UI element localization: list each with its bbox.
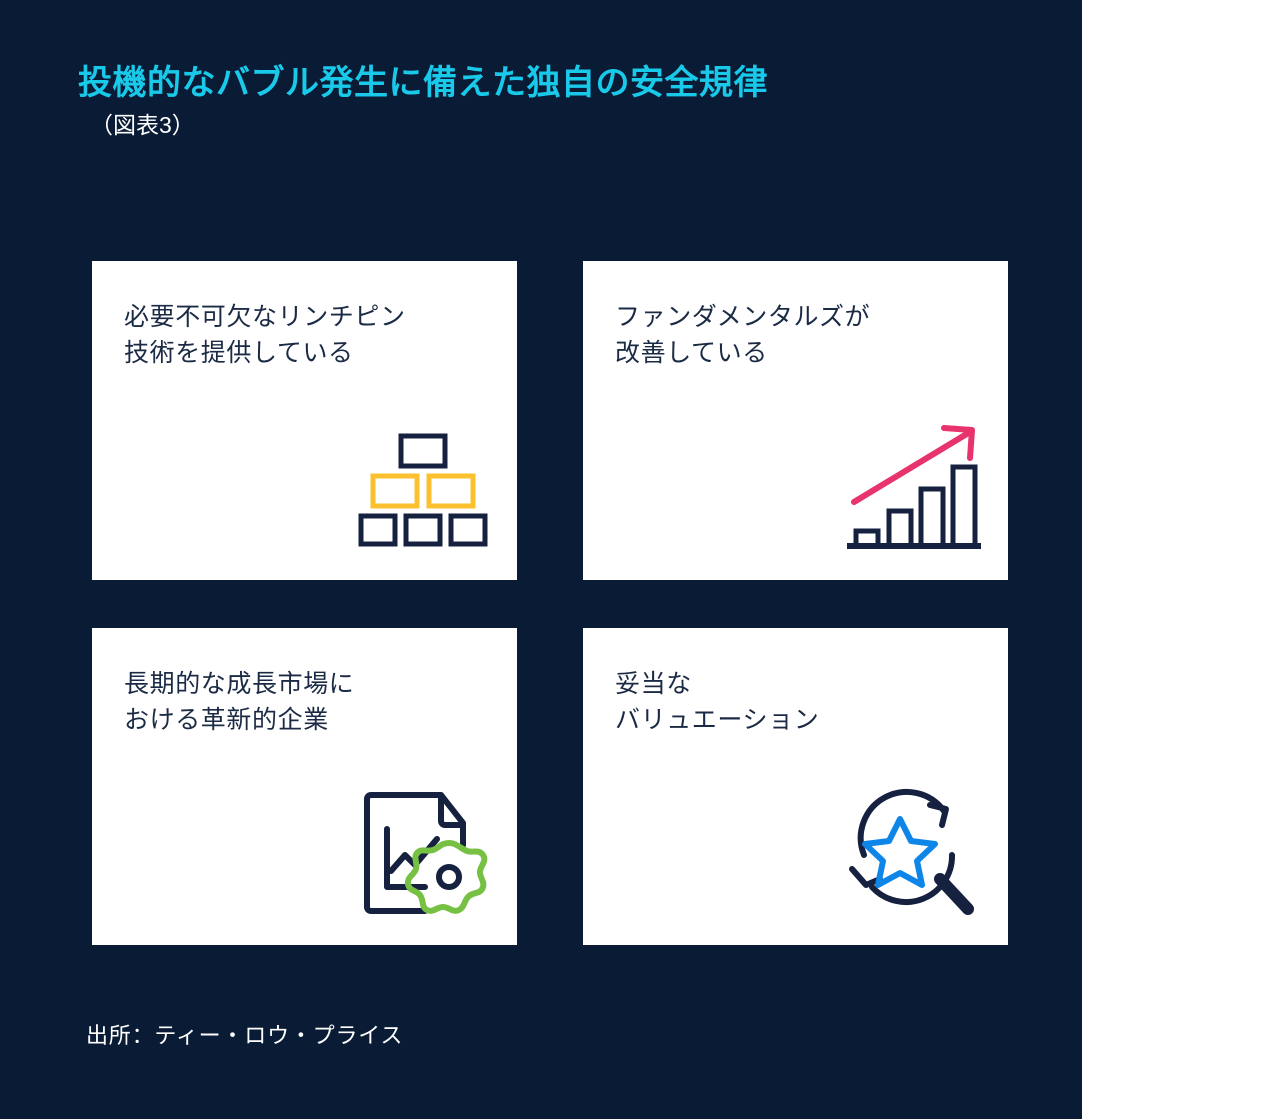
page-subtitle: （図表3） [90, 111, 1028, 141]
magnifier-star-refresh-icon [844, 783, 984, 923]
card-label: 妥当な バリュエーション [615, 666, 992, 739]
header: 投機的なバブル発生に備えた独自の安全規律 （図表3） [78, 62, 1028, 140]
document-chart-gear-icon [353, 783, 493, 923]
org-chart-icon [353, 418, 493, 558]
card-grid: 必要不可欠なリンチピン 技術を提供している ファンダメンタルズが 改善している [92, 261, 1008, 945]
card-innovative-growth-companies[interactable]: 長期的な成長市場に おける革新的企業 [92, 628, 517, 945]
source-note: 出所：ティー・ロウ・プライス [86, 1018, 403, 1050]
card-label: ファンダメンタルズが 改善している [615, 299, 992, 372]
slide-root: 投機的なバブル発生に備えた独自の安全規律 （図表3） 必要不可欠なリンチピン 技… [0, 0, 1280, 1119]
card-label: 長期的な成長市場に おける革新的企業 [124, 666, 501, 739]
card-label: 必要不可欠なリンチピン 技術を提供している [124, 299, 501, 372]
card-lynchpin-technology[interactable]: 必要不可欠なリンチピン 技術を提供している [92, 261, 517, 580]
page-title: 投機的なバブル発生に備えた独自の安全規律 [78, 62, 1028, 105]
card-sensible-valuation[interactable]: 妥当な バリュエーション [583, 628, 1008, 945]
bar-chart-growth-icon [844, 418, 984, 558]
card-improving-fundamentals[interactable]: ファンダメンタルズが 改善している [583, 261, 1008, 580]
